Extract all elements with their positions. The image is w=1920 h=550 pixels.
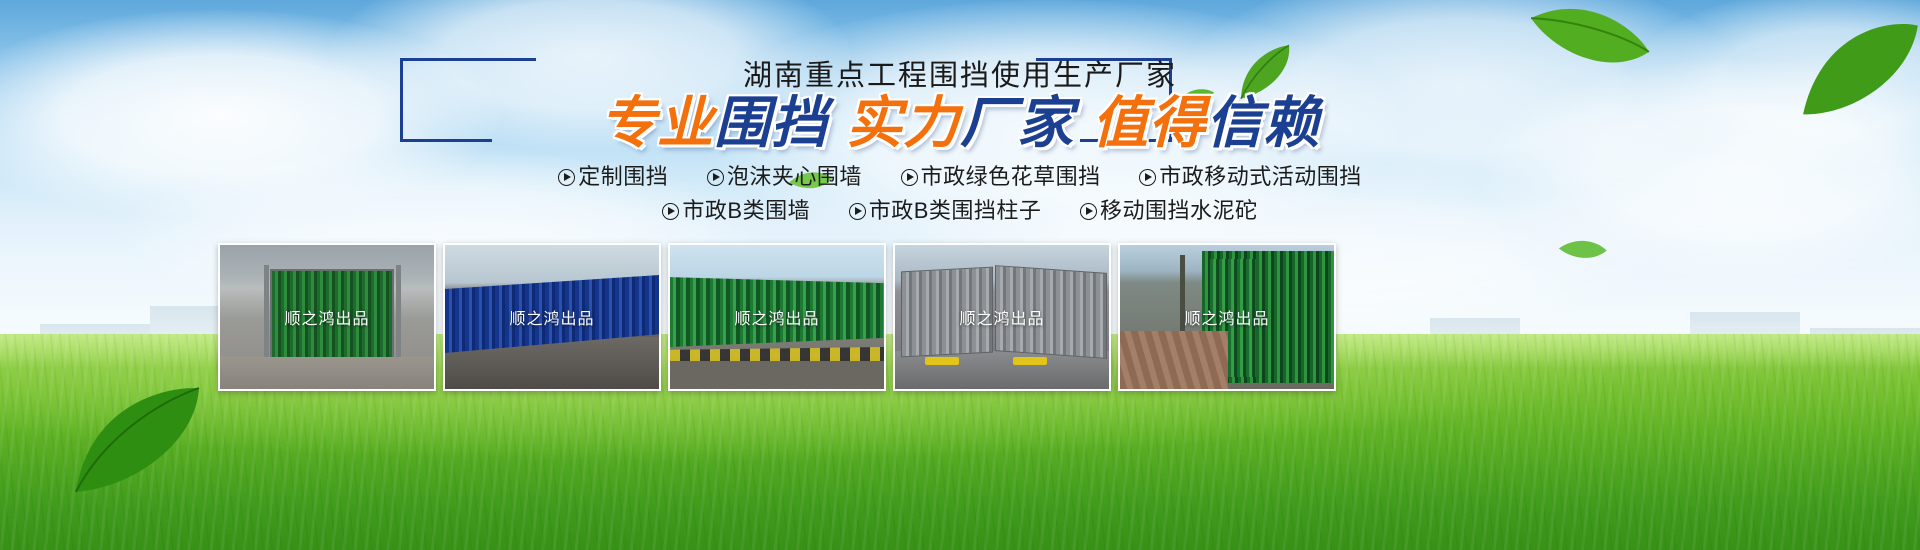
bullet-item[interactable]: 移动围挡水泥砣 [1080,194,1258,228]
headline-part-1b: 围挡 [714,95,828,151]
product-photo-2[interactable]: 顺之鸿出品 [443,243,661,391]
bullet-row-2: 市政B类围墙 市政B类围挡柱子 移动围挡水泥砣 [0,194,1920,228]
play-circle-icon [662,203,679,220]
feature-bullet-list: 定制围挡 泡沫夹心围墙 市政绿色花草围挡 市政移动式活动围挡 市政B类围墙 市政… [0,160,1920,228]
headline-part-3b: 信赖 [1206,95,1320,151]
bullet-label: 泡沫夹心围墙 [727,164,862,189]
product-photo-4[interactable]: 顺之鸿出品 [893,243,1111,391]
bullet-item[interactable]: 定制围挡 [558,160,668,194]
bullet-label: 市政移动式活动围挡 [1159,164,1362,189]
bullet-item[interactable]: 市政B类围挡柱子 [849,194,1042,228]
bullet-label: 市政B类围挡柱子 [869,198,1042,223]
headline-part-3a: 值得 [1092,95,1206,151]
play-circle-icon [1080,203,1097,220]
promo-banner: 湖南重点工程围挡使用生产厂家 专业围挡实力厂家值得信赖 定制围挡 泡沫夹心围墙 … [0,0,1920,550]
bullet-item[interactable]: 市政移动式活动围挡 [1139,160,1362,194]
bullet-item[interactable]: 泡沫夹心围墙 [707,160,862,194]
headline-block: 湖南重点工程围挡使用生产厂家 专业围挡实力厂家值得信赖 定制围挡 泡沫夹心围墙 … [0,0,1920,250]
product-photo-5[interactable]: 顺之鸿出品 [1118,243,1336,391]
play-circle-icon [707,169,724,186]
play-circle-icon [849,203,866,220]
headline-part-1a: 专业 [600,95,714,151]
play-circle-icon [558,169,575,186]
product-photo-3[interactable]: 顺之鸿出品 [668,243,886,391]
headline-part-2b: 厂家 [960,95,1074,151]
bullet-label: 定制围挡 [578,164,668,189]
play-circle-icon [1139,169,1156,186]
banner-headline: 专业围挡实力厂家值得信赖 [0,95,1920,151]
bullet-item[interactable]: 市政B类围墙 [662,194,810,228]
product-photo-1[interactable]: 顺之鸿出品 [218,243,436,391]
product-photo-strip: 顺之鸿出品 顺之鸿出品 顺之鸿出品 顺之鸿出品 顺之鸿出品 [218,243,1350,391]
headline-part-2a: 实力 [846,95,960,151]
bullet-label: 市政绿色花草围挡 [921,164,1101,189]
bullet-label: 市政B类围墙 [682,198,810,223]
bullet-item[interactable]: 市政绿色花草围挡 [901,160,1101,194]
banner-subtitle: 湖南重点工程围挡使用生产厂家 [0,52,1920,94]
bullet-label: 移动围挡水泥砣 [1100,198,1258,223]
bullet-row-1: 定制围挡 泡沫夹心围墙 市政绿色花草围挡 市政移动式活动围挡 [0,160,1920,194]
play-circle-icon [901,169,918,186]
